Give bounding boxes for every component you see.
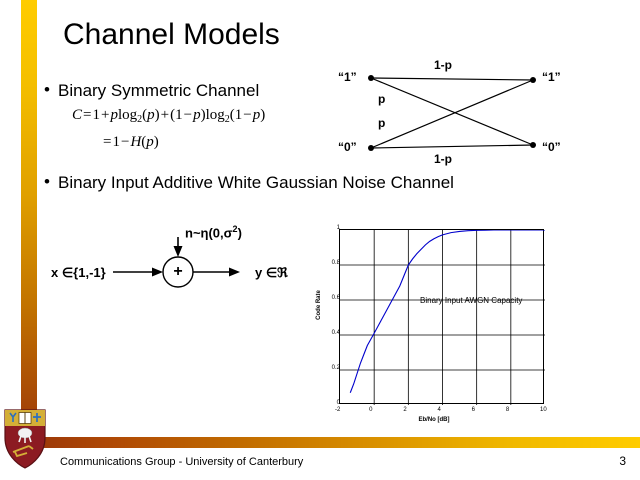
chart-x-tick-label: 6: [472, 407, 475, 413]
chart-y-tick-label: 0.2: [332, 365, 340, 371]
chart-y-tick-label: 0: [337, 400, 340, 406]
formula-line-2: =1−H(p): [102, 135, 265, 151]
formula-symbol-C: C: [72, 107, 82, 123]
chart-x-tick-label: -2: [335, 407, 340, 413]
bsc-crossover-label-lower: p: [378, 116, 385, 130]
bsc-output-node-0-label: “0”: [542, 140, 561, 154]
chart-annotation-label: Binary Input AWGN Capacity: [420, 296, 522, 305]
bsc-diagram: “1” “0” “1” “0” 1-p 1-p p p: [330, 58, 630, 176]
chart-plot-area: Binary Input AWGN Capacity: [339, 229, 544, 404]
bullet-marker-icon: •: [44, 173, 58, 190]
chart-y-tick-label: 1: [337, 225, 340, 231]
slide-canvas: Channel Models • Binary Symmetric Channe…: [0, 0, 640, 480]
formula-symbol-H: H: [130, 134, 141, 150]
bsc-output-node-1-label: “1”: [542, 70, 561, 84]
formula-minus-1: −: [183, 107, 193, 123]
formula-symbol-p-3: p: [193, 107, 201, 123]
slide-page-number: 3: [619, 454, 626, 468]
bsc-bottom-transition-label: 1-p: [434, 152, 452, 166]
bullet-item-binary-symmetric-channel: • Binary Symmetric Channel: [44, 81, 259, 101]
biawgn-capacity-chart: Binary Input AWGN Capacity 00.20.40.60.8…: [312, 224, 556, 424]
left-accent-bar: [21, 0, 37, 432]
chart-grid-and-curve: [340, 230, 545, 405]
formula-minus-3: −: [120, 134, 130, 150]
formula-symbol-p-5: p: [146, 134, 154, 150]
awgn-noise-suffix: ): [238, 225, 242, 240]
bsc-crossover-label-upper: p: [378, 92, 385, 106]
chart-x-tick-label: 8: [506, 407, 509, 413]
page-title: Channel Models: [63, 18, 280, 52]
formula-paren-close-1: ): [155, 107, 160, 123]
formula-symbol-p-2: p: [147, 107, 155, 123]
formula-one-2: 1: [175, 107, 183, 123]
bullet-label: Binary Symmetric Channel: [58, 81, 259, 101]
formula-log-1: log: [118, 107, 137, 123]
awgn-input-label: x ∈{1,-1}: [51, 265, 106, 281]
formula-term-one: 1: [92, 107, 100, 123]
bullet-item-biawgn-channel: • Binary Input Additive White Gaussian N…: [44, 173, 454, 193]
chart-x-tick-label: 0: [369, 407, 372, 413]
chart-x-tick-label: 10: [540, 407, 547, 413]
formula-symbol-p-1: p: [110, 107, 118, 123]
chart-y-tick-label: 0.8: [332, 260, 340, 266]
awgn-output-label: y ∈ℜ: [255, 265, 288, 281]
chart-y-tick-label: 0.6: [332, 295, 340, 301]
chart-x-tick-label: 2: [403, 407, 406, 413]
formula-plus-2: +: [160, 107, 170, 123]
bsc-input-node-1-label: “1”: [338, 70, 357, 84]
bsc-capacity-formula: C=1+plog2(p)+(1−p)log2(1−p) =1−H(p): [72, 108, 265, 150]
formula-paren-close-4: ): [154, 134, 159, 150]
chart-y-tick-label: 0.4: [332, 330, 340, 336]
formula-equals: =: [82, 107, 92, 123]
bullet-marker-icon: •: [44, 81, 58, 98]
chart-y-axis-label: Code Rate: [316, 280, 322, 330]
chart-x-tick-label: 4: [438, 407, 441, 413]
chart-x-axis-label: Eb/No [dB]: [312, 417, 556, 423]
awgn-block-diagram: n~η(0,σ2) x ∈{1,-1} y ∈ℜ +: [45, 222, 320, 297]
bsc-top-transition-label: 1-p: [434, 58, 452, 72]
formula-line-1: C=1+plog2(p)+(1−p)log2(1−p): [72, 108, 265, 126]
footer-label: Communications Group - University of Can…: [60, 456, 303, 468]
formula-one-4: 1: [112, 134, 120, 150]
formula-equals-2: =: [102, 134, 112, 150]
university-crest-logo: [3, 408, 47, 470]
bsc-diagram-lines: [330, 58, 630, 176]
formula-minus-2: −: [242, 107, 252, 123]
bullet-label: Binary Input Additive White Gaussian Noi…: [58, 173, 454, 193]
footer-accent-bar: [44, 437, 640, 448]
bsc-input-node-0-label: “0”: [338, 140, 357, 154]
awgn-adder-symbol: +: [166, 263, 190, 281]
formula-plus-1: +: [100, 107, 110, 123]
formula-paren-close-3: ): [260, 107, 265, 123]
awgn-output-prefix: y ∈: [255, 265, 277, 280]
awgn-diagram-lines: [45, 222, 320, 297]
awgn-output-real-symbol: ℜ: [277, 265, 288, 280]
awgn-noise-label: n~η(0,σ2): [185, 224, 242, 240]
formula-log-2: log: [206, 107, 225, 123]
awgn-noise-prefix: n~η(0,σ: [185, 225, 233, 240]
